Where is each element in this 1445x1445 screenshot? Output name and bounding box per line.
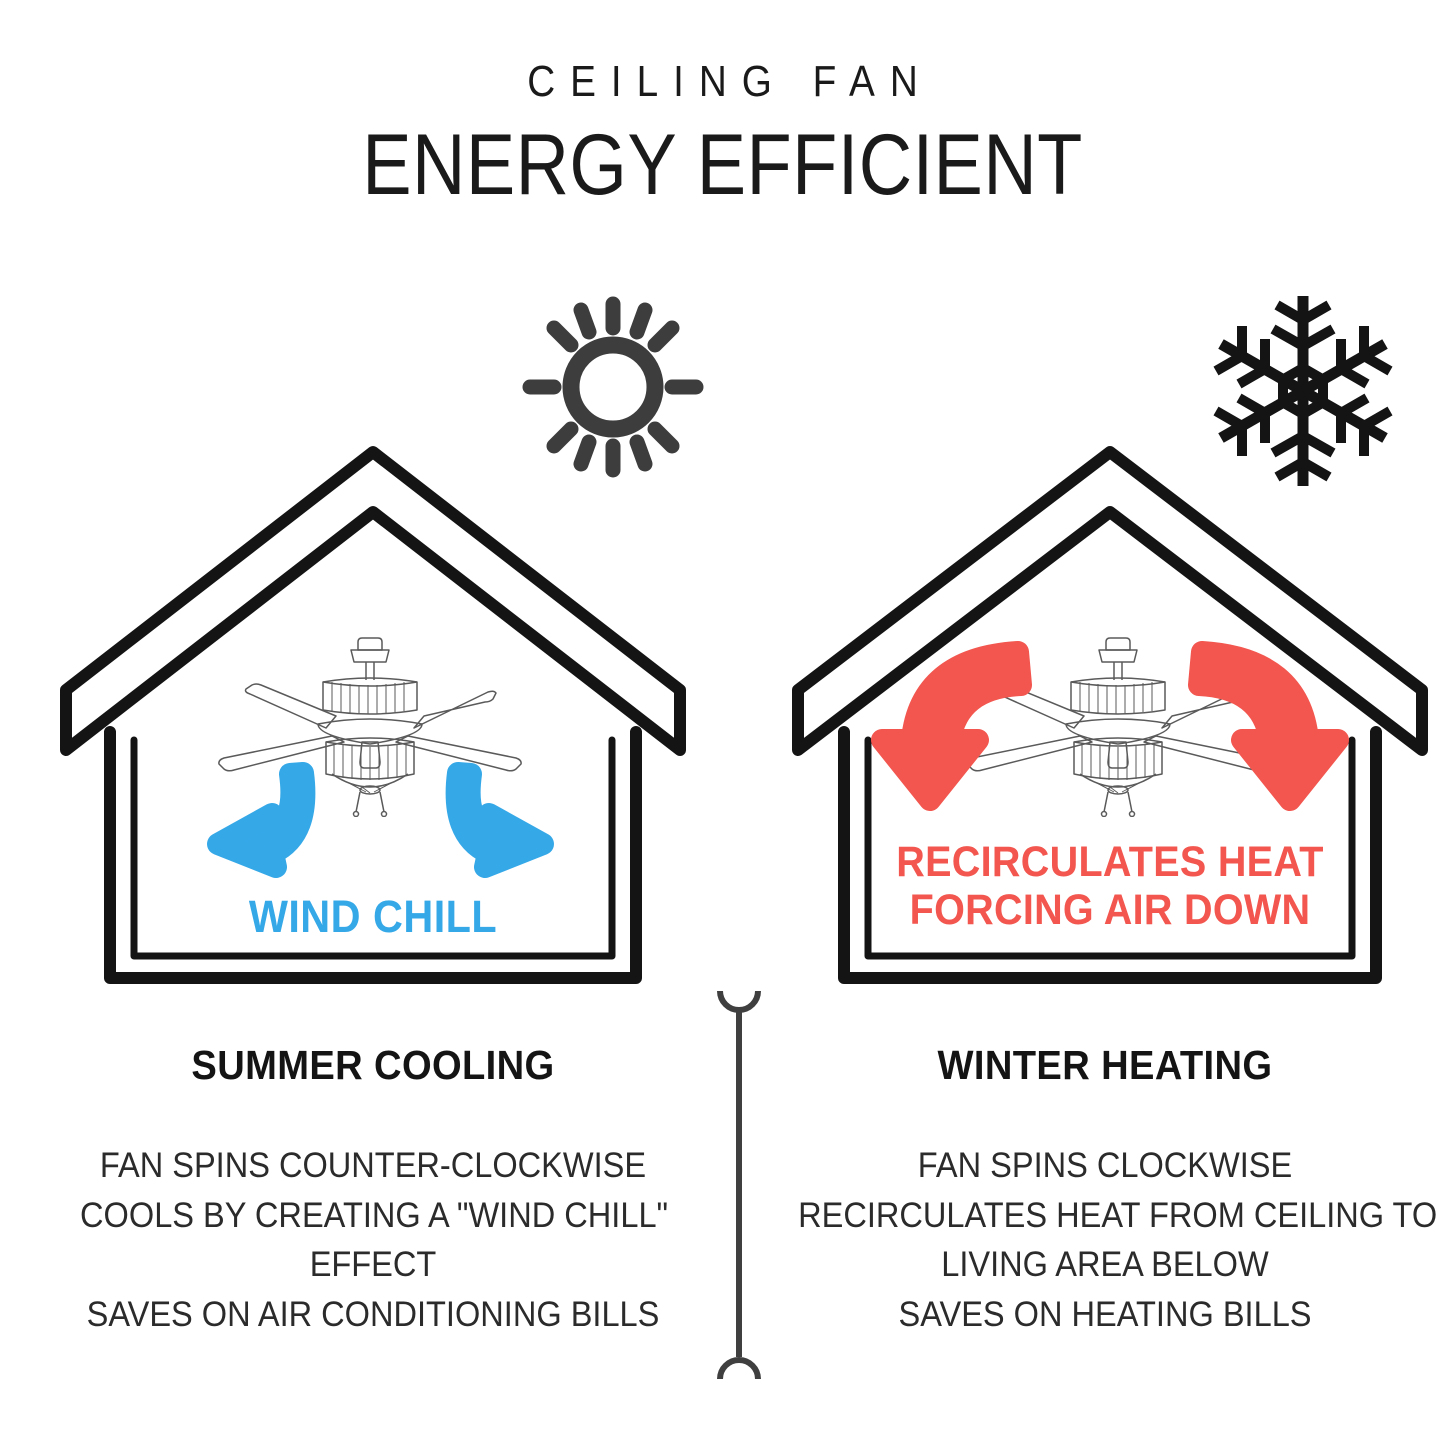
inhouse-label-recirculates-heat: RECIRCULATES HEAT FORCING AIR DOWN	[816, 838, 1405, 934]
caption-line: FAN SPINS CLOCKWISE	[798, 1141, 1412, 1191]
inhouse-label-wind-chill: WIND CHILL	[83, 892, 663, 942]
title-kicker: CEILING FAN	[87, 58, 1359, 106]
caption-heading-winter: WINTER HEATING	[798, 1042, 1412, 1089]
caption-line: LIVING AREA BELOW	[798, 1240, 1412, 1290]
infographic-page: CEILING FAN ENERGY EFFICIENT	[0, 0, 1445, 1445]
title-main: ENERGY EFFICIENT	[101, 120, 1344, 210]
house-winter: RECIRCULATES HEAT FORCING AIR DOWN	[790, 440, 1430, 1000]
panel-winter: RECIRCULATES HEAT FORCING AIR DOWN	[790, 440, 1430, 1000]
caption-summer: SUMMER COOLING FAN SPINS COUNTER-CLOCKWI…	[58, 1042, 688, 1340]
page-title: CEILING FAN ENERGY EFFICIENT	[0, 58, 1445, 211]
caption-winter: WINTER HEATING FAN SPINS CLOCKWISE RECIR…	[775, 1042, 1435, 1340]
caption-line: COOLS BY CREATING A "WIND CHILL"	[80, 1191, 666, 1241]
inhouse-label-line1: RECIRCULATES HEAT	[816, 838, 1405, 886]
panel-summer: WIND CHILL	[58, 440, 688, 1000]
caption-body-winter: FAN SPINS CLOCKWISE RECIRCULATES HEAT FR…	[798, 1141, 1412, 1340]
caption-body-summer: FAN SPINS COUNTER-CLOCKWISE COOLS BY CRE…	[80, 1141, 666, 1340]
house-summer: WIND CHILL	[58, 440, 688, 1000]
caption-line: FAN SPINS COUNTER-CLOCKWISE	[80, 1141, 666, 1191]
inhouse-label-line2: FORCING AIR DOWN	[816, 886, 1405, 934]
caption-line: EFFECT	[80, 1240, 666, 1290]
caption-heading-summer: SUMMER COOLING	[80, 1042, 666, 1089]
caption-line: SAVES ON AIR CONDITIONING BILLS	[80, 1290, 666, 1340]
vertical-divider	[706, 985, 772, 1390]
caption-line: RECIRCULATES HEAT FROM CEILING TO	[798, 1191, 1412, 1241]
caption-line: SAVES ON HEATING BILLS	[798, 1290, 1412, 1340]
